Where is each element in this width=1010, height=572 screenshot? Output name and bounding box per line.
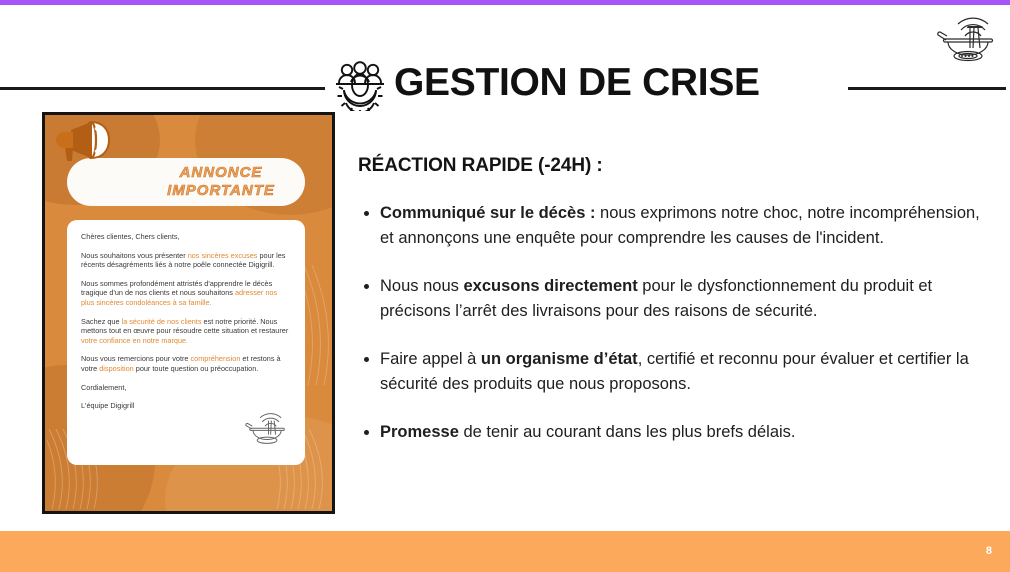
letter-paragraph-2: Nous sommes profondément attristés d'app… <box>81 279 291 308</box>
slide-content: RÉACTION RAPIDE (-24H) : Communiqué sur … <box>358 155 990 445</box>
header-rule-left <box>0 87 325 90</box>
letter-card: Chères clientes, Chers clients, Nous sou… <box>67 220 305 465</box>
top-accent-rule <box>0 0 1010 5</box>
slide: GESTION DE CRISE <box>0 0 1010 572</box>
letter-closing: Cordialement, <box>81 383 291 393</box>
header-rule-right <box>848 87 1006 90</box>
slide-header: GESTION DE CRISE <box>0 55 1010 110</box>
footer-bar: 8 <box>0 531 1010 572</box>
list-item: Nous nous excusons directement pour le d… <box>358 274 990 323</box>
page-title: GESTION DE CRISE <box>394 55 760 110</box>
announce-line-1: ANNONCE <box>180 164 263 181</box>
connected-pan-icon <box>239 405 291 453</box>
content-subhead: RÉACTION RAPIDE (-24H) : <box>358 155 990 177</box>
bullet-list: Communiqué sur le décès : nous exprimons… <box>358 201 990 445</box>
team-gear-icon <box>330 59 390 111</box>
list-item: Promesse de tenir au courant dans les pl… <box>358 420 990 445</box>
announcement-visual-card: ANNONCE IMPORTANTE Chères clientes, Cher… <box>42 112 335 514</box>
list-item: Faire appel à un organisme d’état, certi… <box>358 347 990 396</box>
megaphone-icon <box>51 114 129 166</box>
letter-salutation: Chères clientes, Chers clients, <box>81 232 291 242</box>
announce-banner-text: ANNONCE IMPORTANTE <box>145 164 297 200</box>
page-number: 8 <box>986 545 992 557</box>
letter-paragraph-3: Sachez que la sécurité de nos clients es… <box>81 317 291 346</box>
announce-line-2: IMPORTANTE <box>167 182 275 199</box>
letter-paragraph-1: Nous souhaitons vous présenter nos sincè… <box>81 251 291 270</box>
letter-paragraph-4: Nous vous remercions pour votre compréhe… <box>81 354 291 373</box>
list-item: Communiqué sur le décès : nous exprimons… <box>358 201 990 250</box>
